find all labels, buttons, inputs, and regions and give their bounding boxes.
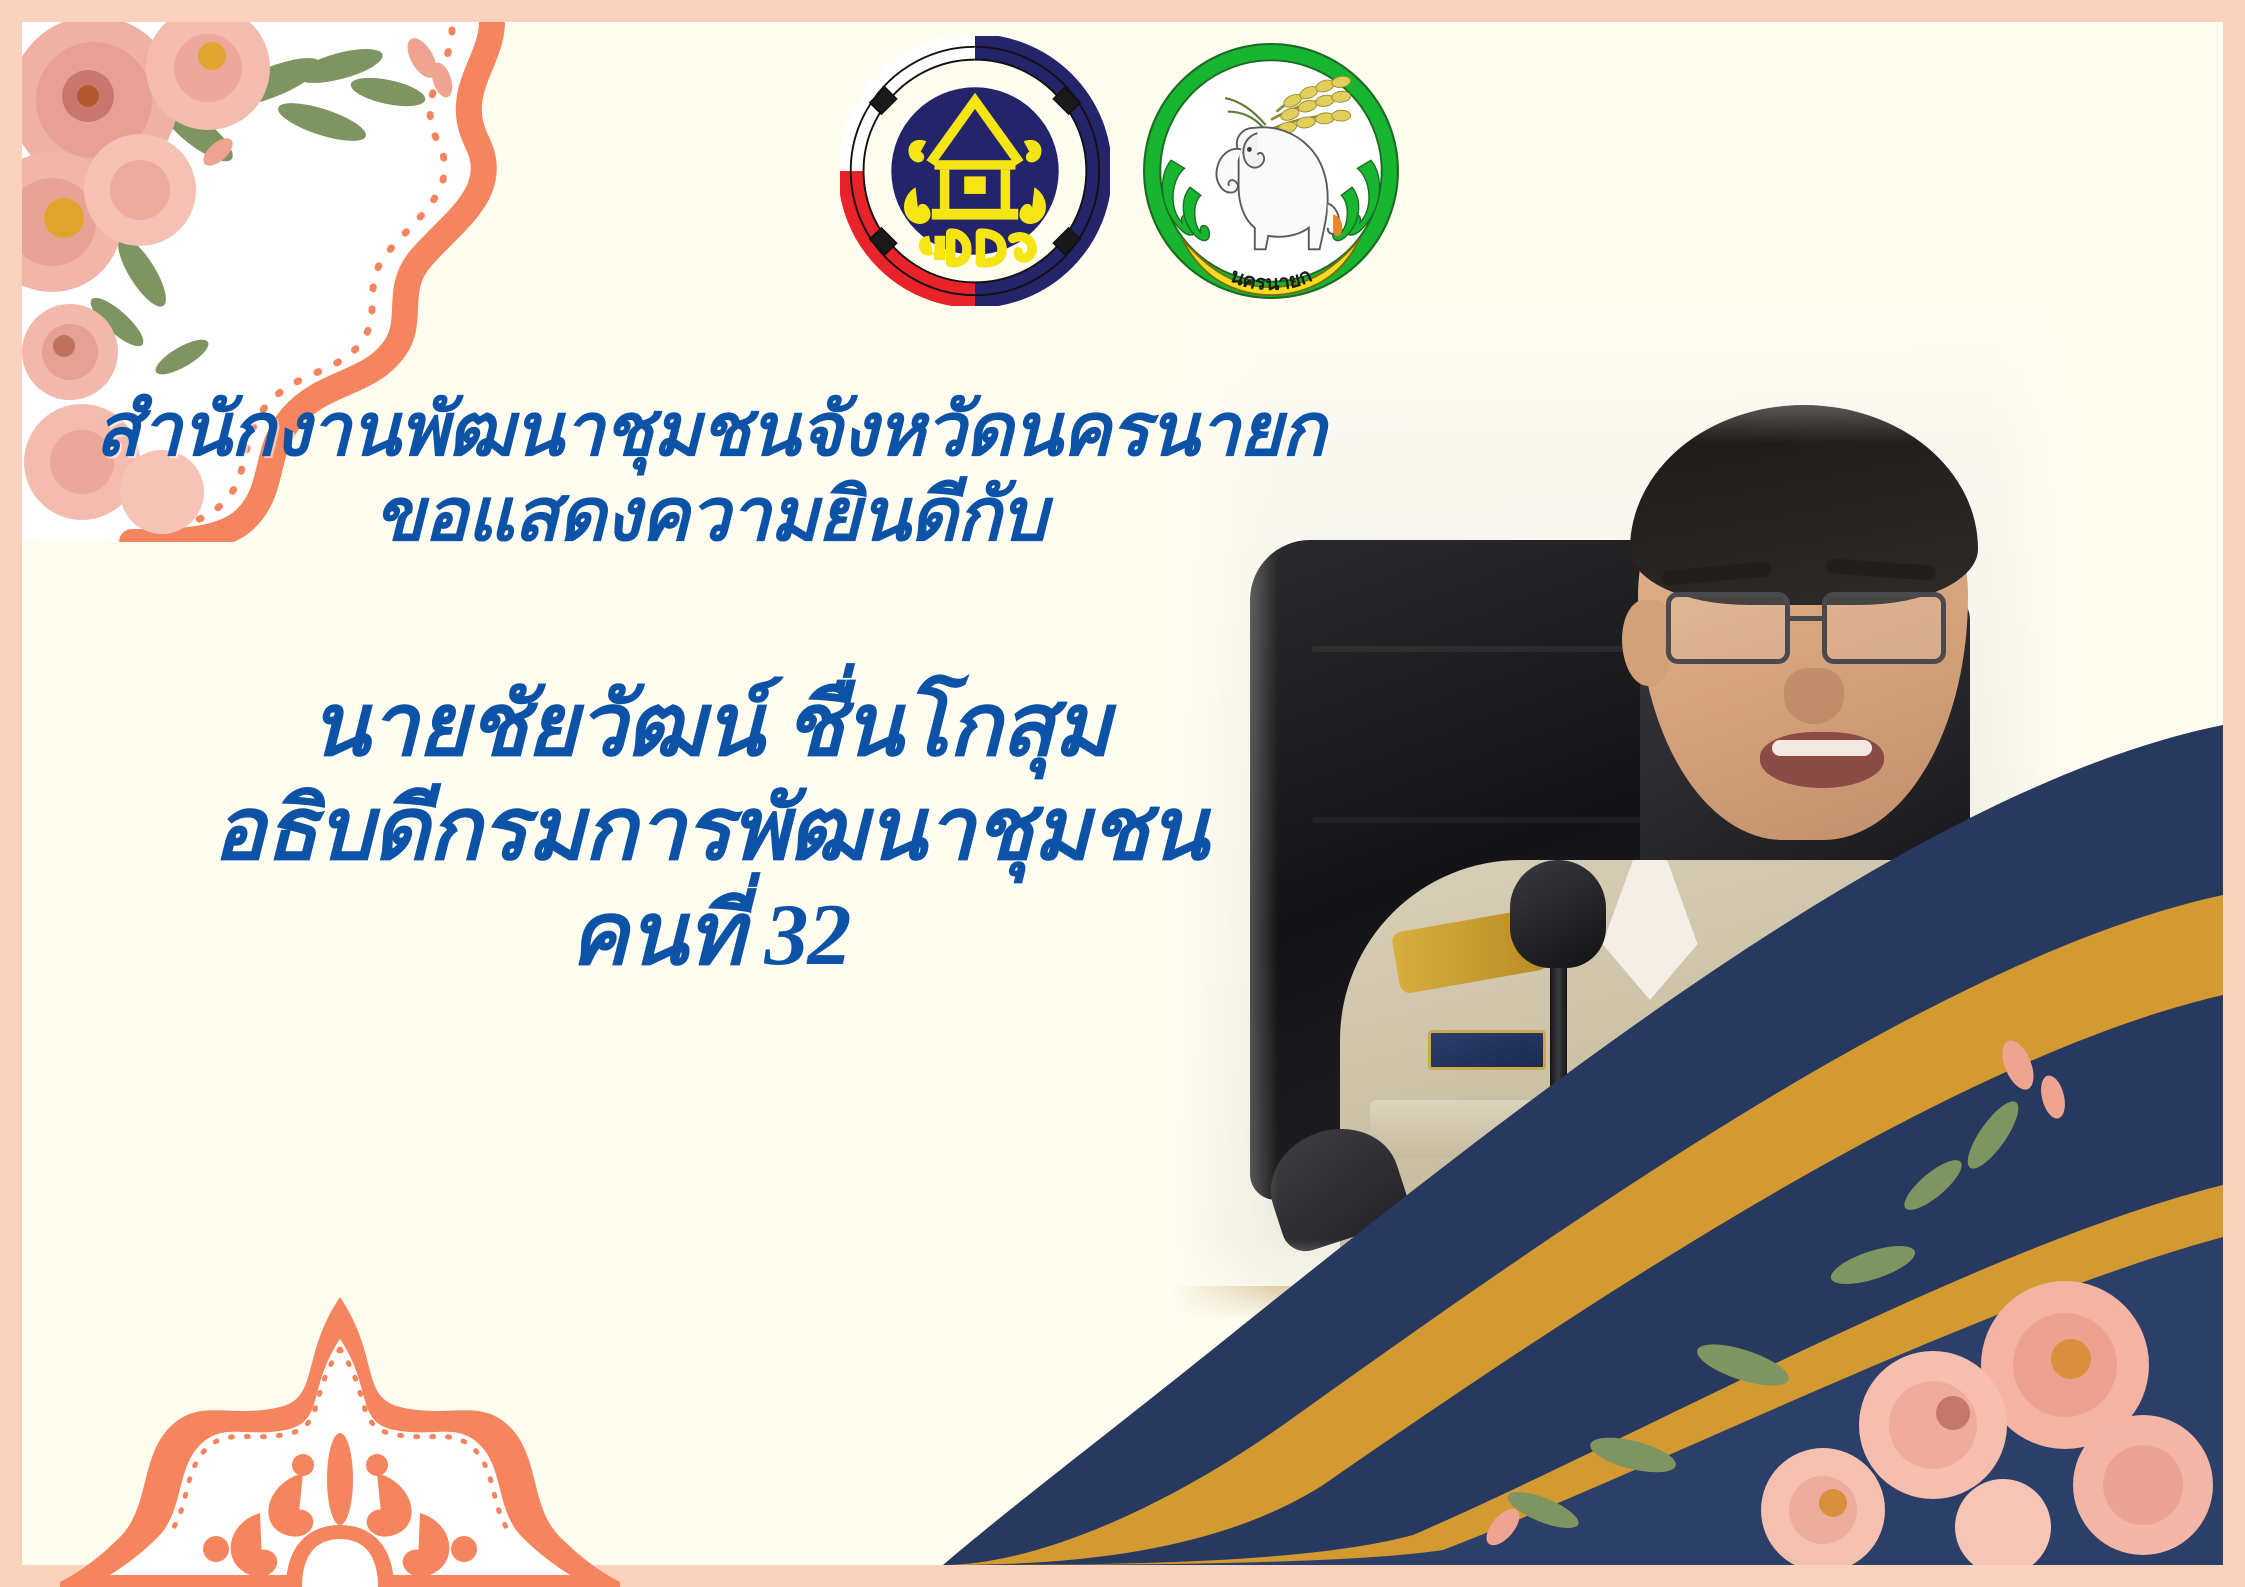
text-spacer: [60, 558, 1360, 678]
honoree-ordinal: คนที่ 32: [60, 887, 1360, 986]
photo-pocket-flap-right: [1745, 1100, 1975, 1158]
headline-line-1: สำนักงานพัฒนาชุมชนจังหวัดนครนายก: [60, 390, 1360, 473]
photo-paper-blue: [1870, 1286, 2070, 1320]
nakhon-nayok-seal-logo: นครนายก: [1136, 36, 1406, 306]
photo-name-tag: [1428, 1030, 1546, 1070]
honoree-position: อธิบดีกรมการพัฒนาชุมชน: [60, 782, 1360, 881]
headline-line-2: ขอแสดงความยินดีกับ: [60, 475, 1360, 558]
photo-glasses-bridge: [1790, 616, 1824, 621]
honoree-name: นายชัยวัฒน์ ชื่นโกสุม: [60, 678, 1360, 777]
photo-mouth: [1760, 732, 1884, 788]
photo-service-ribbons: [1775, 1050, 1935, 1074]
message-text-block: สำนักงานพัฒนาชุมชนจังหวัดนครนายก ขอแสดงค…: [60, 390, 1360, 985]
photo-microphone-head: [1510, 860, 1606, 968]
photo-nose: [1784, 668, 1844, 724]
logo-row: กรมการพัฒนาชุมชน: [0, 36, 2245, 306]
photo-eyeglasses: [1656, 592, 1956, 666]
cdd-emblem-logo: กรมการพัฒนาชุมชน: [840, 36, 1110, 306]
poster-canvas: กรมการพัฒนาชุมชน: [0, 0, 2245, 1587]
photo-lens-left: [1666, 592, 1790, 664]
photo-lens-right: [1822, 592, 1946, 664]
cdd-navy-disc: [891, 87, 1058, 254]
